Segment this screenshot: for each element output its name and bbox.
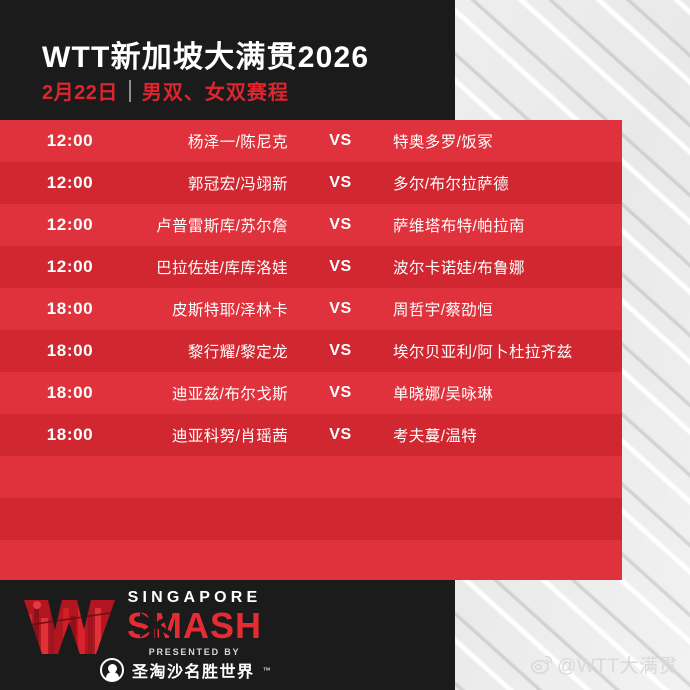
match-player-left: 迪亚兹/布尔戈斯 (140, 382, 288, 404)
sponsor-name: 圣淘沙名胜世界 (132, 658, 255, 682)
logo-presented-by-text: PRESENTED BY (122, 647, 267, 657)
empty-row (0, 540, 622, 582)
weibo-handle: @WTT大满贯 (557, 651, 678, 678)
weibo-watermark: @WTT大满贯 (531, 651, 678, 678)
match-time: 12:00 (0, 215, 140, 235)
match-player-right: 多尔/布尔拉萨德 (393, 172, 622, 194)
table-row[interactable]: 12:00杨泽一/陈尼克VS特奥多罗/饭冢 (0, 120, 622, 162)
weibo-icon (531, 655, 553, 674)
match-player-right: 埃尔贝亚利/阿卜杜拉齐兹 (393, 340, 622, 362)
table-row[interactable]: 18:00迪亚兹/布尔戈斯VS单晓娜/吴咏琳 (0, 372, 622, 414)
sentosa-logo-icon (100, 658, 124, 682)
match-vs-label: VS (288, 384, 393, 402)
subtitle-events: 男双、女双赛程 (142, 76, 289, 105)
table-row[interactable]: 18:00迪亚科努/肖瑶茜VS考夫蔓/温特 (0, 414, 622, 456)
sponsor-lockup: 圣淘沙名胜世界 ™ (100, 658, 271, 682)
match-time: 18:00 (0, 341, 140, 361)
match-time: 12:00 (0, 257, 140, 277)
subtitle-separator (129, 80, 131, 102)
page-title: WTT新加坡大满贯2026 (42, 32, 369, 76)
sponsor-trademark: ™ (263, 666, 271, 675)
event-logo: SINGAPORE SMASH PRESENTED BY 圣淘沙名胜世界 ™ (22, 588, 267, 684)
empty-row (0, 498, 622, 540)
table-row[interactable]: 12:00郭冠宏/冯翊新VS多尔/布尔拉萨德 (0, 162, 622, 204)
match-player-right: 特奥多罗/饭冢 (393, 130, 622, 152)
table-row[interactable]: 12:00巴拉佐娃/库库洛娃VS波尔卡诺娃/布鲁娜 (0, 246, 622, 288)
match-vs-label: VS (288, 300, 393, 318)
logo-smash-text: SMASH (122, 607, 267, 645)
match-player-right: 单晓娜/吴咏琳 (393, 382, 622, 404)
match-time: 12:00 (0, 131, 140, 151)
match-player-left: 杨泽一/陈尼克 (140, 130, 288, 152)
match-time: 18:00 (0, 299, 140, 319)
match-vs-label: VS (288, 174, 393, 192)
smash-wordmark: SINGAPORE SMASH PRESENTED BY (122, 590, 267, 657)
match-player-left: 卢普雷斯库/苏尔詹 (140, 214, 288, 236)
table-row[interactable]: 18:00皮斯特耶/泽林卡VS周哲宇/蔡劭恒 (0, 288, 622, 330)
match-player-left: 巴拉佐娃/库库洛娃 (140, 256, 288, 278)
match-vs-label: VS (288, 342, 393, 360)
match-time: 18:00 (0, 425, 140, 445)
match-player-right: 周哲宇/蔡劭恒 (393, 298, 622, 320)
match-time: 18:00 (0, 383, 140, 403)
subtitle-date: 2月22日 (42, 76, 118, 105)
subtitle-row: 2月22日 男双、女双赛程 (42, 76, 289, 105)
match-player-right: 考夫蔓/温特 (393, 424, 622, 446)
match-player-left: 皮斯特耶/泽林卡 (140, 298, 288, 320)
empty-row (0, 456, 622, 498)
match-player-right: 萨维塔布特/帕拉南 (393, 214, 622, 236)
logo-singapore-text: SINGAPORE (122, 590, 267, 606)
match-player-left: 黎行耀/黎定龙 (140, 340, 288, 362)
match-player-right: 波尔卡诺娃/布鲁娜 (393, 256, 622, 278)
header-banner: WTT新加坡大满贯2026 2月22日 男双、女双赛程 (0, 0, 455, 120)
match-player-left: 郭冠宏/冯翊新 (140, 172, 288, 194)
match-vs-label: VS (288, 216, 393, 234)
match-time: 12:00 (0, 173, 140, 193)
table-row[interactable]: 18:00黎行耀/黎定龙VS埃尔贝亚利/阿卜杜拉齐兹 (0, 330, 622, 372)
footer-banner: SINGAPORE SMASH PRESENTED BY 圣淘沙名胜世界 ™ (0, 580, 455, 690)
schedule-panel: 12:00杨泽一/陈尼克VS特奥多罗/饭冢12:00郭冠宏/冯翊新VS多尔/布尔… (0, 120, 622, 580)
table-row[interactable]: 12:00卢普雷斯库/苏尔詹VS萨维塔布特/帕拉南 (0, 204, 622, 246)
singapore-skyline-icon (22, 596, 117, 658)
match-player-left: 迪亚科努/肖瑶茜 (140, 424, 288, 446)
match-vs-label: VS (288, 132, 393, 150)
match-vs-label: VS (288, 258, 393, 276)
match-vs-label: VS (288, 426, 393, 444)
